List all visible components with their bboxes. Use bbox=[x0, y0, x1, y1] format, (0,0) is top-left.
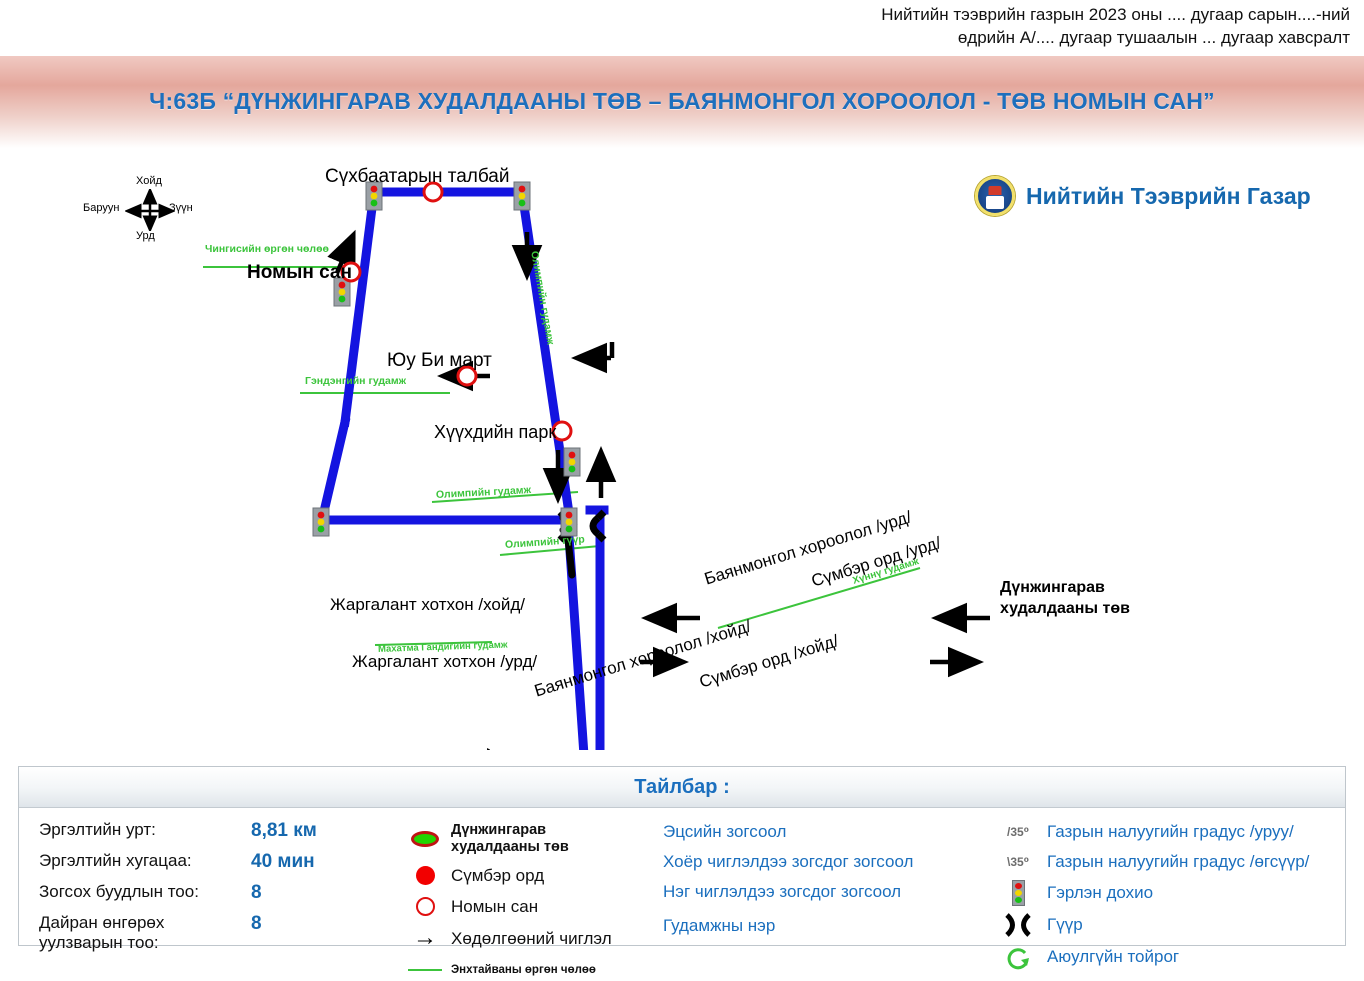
legend-symbol-label: Дүнжингарав худалдааны төв bbox=[451, 822, 569, 855]
traffic-light-icon bbox=[313, 508, 329, 536]
filled-red-dot-icon bbox=[399, 866, 451, 885]
stat-value: 8 bbox=[251, 913, 262, 935]
compass-arrows-icon bbox=[125, 189, 175, 231]
legend-icon-label: Гүүр bbox=[1047, 915, 1083, 935]
route-title: Ч:63Б “ДҮНЖИНГАРАВ ХУДАЛДААНЫ ТӨВ – БАЯН… bbox=[0, 88, 1364, 115]
terminal-ellipse-icon bbox=[399, 831, 451, 847]
legend-symbol-row: Дүнжингарав худалдааны төв bbox=[399, 822, 649, 855]
terminal-label-line-1: Дүнжингарав bbox=[1000, 578, 1130, 599]
legend-icon-row: Гэрлэн дохио bbox=[989, 880, 1345, 906]
terminal-label-line-2: худалдааны төв bbox=[1000, 599, 1130, 620]
legend-symbol-row: Номын сан bbox=[399, 895, 649, 917]
legend-icon-label: Аюулгүйн тойрог bbox=[1047, 947, 1179, 967]
slope-up-icon: \35⁰ bbox=[989, 855, 1047, 869]
legend-desc: Гудамжны нэр bbox=[663, 916, 979, 936]
legend-symbol-row: Сүмбэр орд bbox=[399, 864, 649, 886]
legend-header-label: Тайлбар : bbox=[634, 776, 730, 799]
compass-north-label: Хойд bbox=[136, 175, 162, 187]
legend-desc: Нэг чиглэлдээ зогсдог зогсоол bbox=[663, 882, 979, 902]
legend-symbol-label: Энхтайваны өргөн чөлөө bbox=[451, 964, 596, 977]
legend-descriptions-column: Эцсийн зогсоол Хоёр чиглэлдээ зогсдог зо… bbox=[649, 812, 979, 947]
legend-desc: Эцсийн зогсоол bbox=[663, 822, 979, 842]
slope-down-mark: /35⁰ bbox=[1007, 825, 1029, 839]
green-line-icon bbox=[399, 969, 451, 971]
legend-icon-row: /35⁰ Газрын налуугийн градус /уруу/ bbox=[989, 820, 1345, 844]
legend-icon-label: Гэрлэн дохио bbox=[1047, 883, 1153, 903]
traffic-light-icon bbox=[561, 508, 577, 536]
stop-label-nomyn-san: Номын сан bbox=[247, 262, 352, 284]
bridge-icon bbox=[989, 912, 1047, 938]
street-label-gendengiin: Гэндэнгийн гудамж bbox=[305, 375, 406, 387]
legend-symbol-label: Хөдөлгөөний чиглэл bbox=[451, 929, 612, 949]
doc-note-line-1: Нийтийн тээврийн газрын 2023 оны .... ду… bbox=[881, 4, 1350, 27]
legend-symbol-label: Сүмбэр орд bbox=[451, 866, 544, 886]
legend-icons-column: /35⁰ Газрын налуугийн градус /уруу/ \35⁰… bbox=[979, 812, 1345, 947]
slope-down-icon: /35⁰ bbox=[989, 825, 1047, 839]
stat-row: Зогсох буудлын тоо:8 bbox=[39, 882, 399, 904]
legend-header: Тайлбар : bbox=[19, 767, 1345, 808]
street-label-chingisiin: Чингисийн өргөн чөлөө bbox=[205, 243, 329, 255]
compass-west-label: Баруун bbox=[83, 202, 119, 214]
traffic-light-icon bbox=[564, 448, 580, 476]
legend-desc: Хоёр чиглэлдээ зогсдог зогсоол bbox=[663, 852, 979, 872]
stop-label-sukhbaatar: Сүхбаатарын талбай bbox=[325, 166, 510, 188]
stop-label-khuukhdiin-park: Хүүхдийн парк bbox=[434, 422, 556, 443]
legend-icon-label: Газрын налуугийн градус /өгсүүр/ bbox=[1047, 852, 1309, 872]
slope-up-mark: \35⁰ bbox=[1007, 855, 1029, 869]
compass-rose: Хойд Урд Зүүн Баруун bbox=[95, 175, 205, 245]
legend-icon-row: Аюулгүйн тойрог bbox=[989, 944, 1345, 970]
stat-label: Зогсох буудлын тоо: bbox=[39, 882, 251, 902]
traffic-light-icon bbox=[989, 880, 1047, 906]
doc-note-line-2: өдрийн А/.... дугаар тушаалын ... дугаар… bbox=[881, 27, 1350, 50]
stop-label-jargalant-south: Жаргалант хотхон /урд/ bbox=[352, 652, 537, 672]
legend-icon-row: \35⁰ Газрын налуугийн градус /өгсүүр/ bbox=[989, 850, 1345, 874]
stat-label: Дайран өнгөрөх уулзварын тоо: bbox=[39, 913, 251, 954]
legend-panel: Тайлбар : Эргэлтийн урт:8,81 км Эргэлтий… bbox=[18, 766, 1346, 946]
stop-label-jargalant-north: Жаргалант хотхон /хойд/ bbox=[330, 595, 525, 615]
stop-label-yuu-bi-mart: Юу Би март bbox=[387, 350, 492, 372]
stat-label: Эргэлтийн урт: bbox=[39, 820, 251, 840]
traffic-light-icon bbox=[514, 182, 530, 210]
black-arrow-icon: → bbox=[399, 926, 451, 950]
safety-roundabout-icon bbox=[989, 944, 1047, 970]
open-red-circle-icon bbox=[399, 897, 451, 916]
legend-symbol-label: Номын сан bbox=[451, 897, 538, 917]
compass-south-label: Урд bbox=[136, 230, 155, 242]
legend-icon-row: Гүүр bbox=[989, 912, 1345, 938]
legend-symbols-column: Дүнжингарав худалдааны төв Сүмбэр орд Но… bbox=[399, 812, 649, 947]
legend-stats-column: Эргэлтийн урт:8,81 км Эргэлтийн хугацаа:… bbox=[19, 812, 399, 947]
document-reference-note: Нийтийн тээврийн газрын 2023 оны .... ду… bbox=[881, 4, 1350, 50]
stat-value: 8 bbox=[251, 882, 262, 904]
stat-row: Дайран өнгөрөх уулзварын тоо:8 bbox=[39, 913, 399, 954]
stat-row: Эргэлтийн хугацаа:40 мин bbox=[39, 851, 399, 873]
terminal-label: Дүнжингарав худалдааны төв bbox=[1000, 578, 1130, 620]
stat-label: Эргэлтийн хугацаа: bbox=[39, 851, 251, 871]
stat-value: 40 мин bbox=[251, 851, 315, 873]
legend-symbol-row: Энхтайваны өргөн чөлөө bbox=[399, 959, 649, 981]
stat-row: Эргэлтийн урт:8,81 км bbox=[39, 820, 399, 842]
stat-value: 8,81 км bbox=[251, 820, 317, 842]
legend-icon-label: Газрын налуугийн градус /уруу/ bbox=[1047, 822, 1294, 842]
legend-symbol-row: → Хөдөлгөөний чиглэл bbox=[399, 926, 649, 950]
